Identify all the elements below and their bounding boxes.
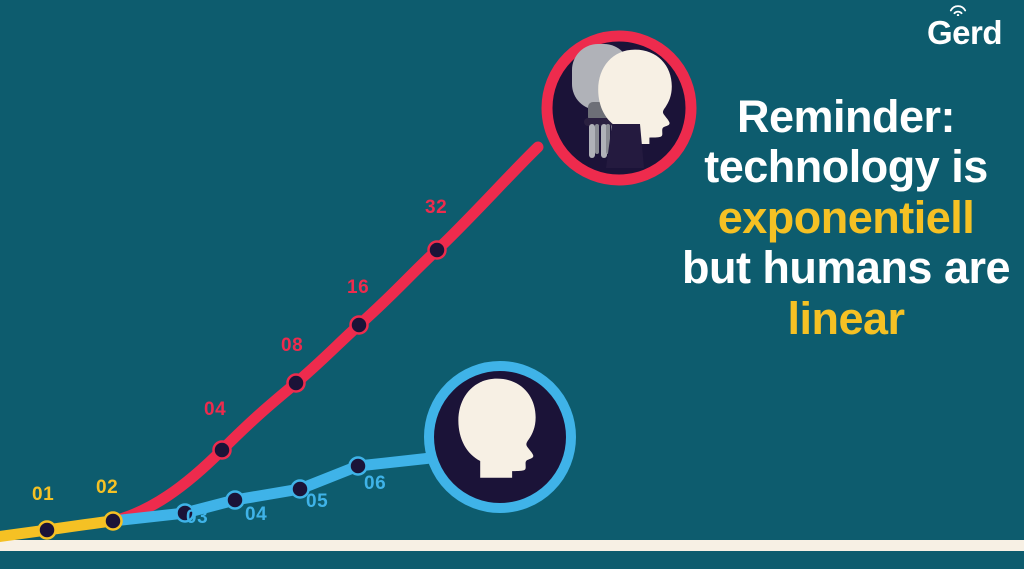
point-label-02: 02 (96, 478, 118, 497)
point-label-06: 06 (364, 474, 386, 493)
point-label-red-16: 16 (347, 278, 369, 297)
point-label-red-08: 08 (281, 336, 303, 355)
headline-block: Reminder: technology is exponentiell but… (676, 92, 1016, 344)
exponential-callout[interactable] (547, 36, 691, 180)
linear-callout[interactable] (429, 366, 571, 508)
point-label-red-04: 04 (204, 400, 226, 419)
headline-line-1: Reminder: (676, 92, 1016, 142)
point-label-red-32: 32 (425, 198, 447, 217)
data-point-red-16[interactable] (351, 317, 368, 334)
data-point-yellow-01[interactable] (39, 522, 56, 539)
data-point-blue-06[interactable] (350, 458, 367, 475)
data-point-red-32[interactable] (429, 242, 446, 259)
brand-name: Gerd (927, 16, 1002, 49)
headline-line-2: technology is (676, 142, 1016, 192)
headline-line-4: but humans are (676, 243, 1016, 293)
data-point-red-04[interactable] (214, 442, 231, 459)
data-point-red-08[interactable] (288, 375, 305, 392)
brand-logo[interactable]: Gerd (927, 16, 1002, 49)
headline-line-5: linear (676, 294, 1016, 344)
data-point-yellow-02[interactable] (105, 513, 122, 530)
infographic-canvas: 01 02 03 04 05 06 04 08 16 32 Reminder: … (0, 0, 1024, 569)
series-shared-origin (0, 513, 122, 539)
point-label-05: 05 (306, 492, 328, 511)
series-humans-linear (113, 457, 440, 522)
point-label-04: 04 (245, 505, 267, 524)
robot-neck-shadow (606, 124, 644, 168)
point-label-01: 01 (32, 485, 54, 504)
linear-line (113, 457, 440, 521)
point-label-03: 03 (186, 508, 208, 527)
headline-line-3: exponentiell (676, 193, 1016, 243)
wifi-icon (949, 5, 967, 16)
data-point-blue-04[interactable] (227, 492, 244, 509)
